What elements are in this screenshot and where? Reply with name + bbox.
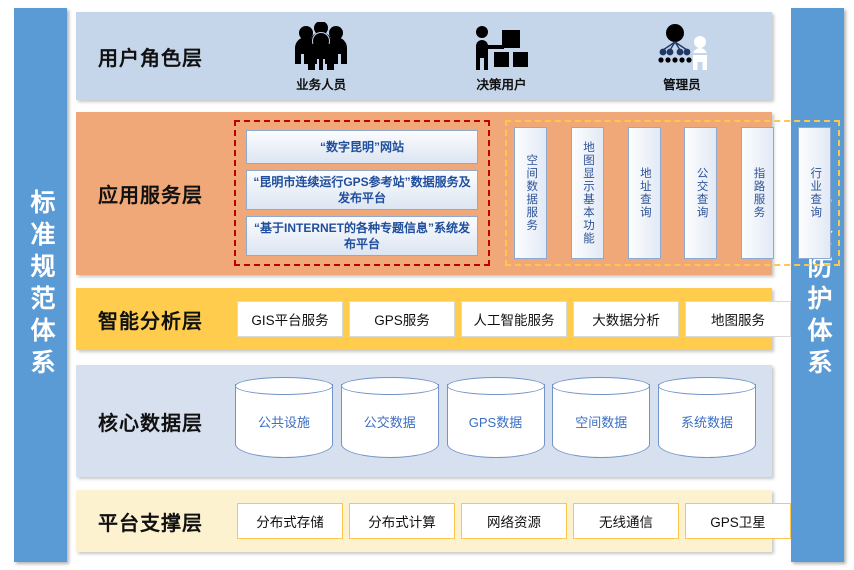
support-service-item[interactable]: 无线通信: [573, 503, 679, 539]
layer-intelligent-analysis-body: GIS平台服务 GPS服务 人工智能服务 大数据分析 地图服务: [231, 288, 805, 350]
layer-platform-support: 平台支撑层 分布式存储 分布式计算 网络资源 无线通信 GPS卫星: [76, 490, 772, 552]
app-service-item[interactable]: 地址查询: [628, 127, 661, 259]
database-list: 公共设施 公交数据 GPS数据 空间数据: [231, 377, 772, 465]
security-pillar: 安全防护体系: [791, 8, 844, 562]
app-service-label: 指路服务: [752, 167, 764, 219]
app-platform-item[interactable]: “基于INTERNET的各种专题信息”系统发布平台: [246, 216, 478, 256]
role-label: 管理员: [663, 74, 701, 93]
app-platform-item[interactable]: “昆明市连续运行GPS参考站”数据服务及发布平台: [246, 170, 478, 210]
app-service-label: 地图显示基本功能: [582, 141, 594, 245]
app-platform-item[interactable]: “数字昆明”网站: [246, 130, 478, 164]
database-cylinder[interactable]: 系统数据: [658, 377, 756, 465]
support-service-item[interactable]: 分布式存储: [237, 503, 343, 539]
service-group-yellow: 空间数据服务 地图显示基本功能 地址查询 公交查询 指路服务 行业查询: [505, 120, 840, 266]
support-service-list: 分布式存储 分布式计算 网络资源 无线通信 GPS卫星: [231, 503, 805, 539]
database-cylinder[interactable]: GPS数据: [447, 377, 545, 465]
database-label: GPS数据: [447, 377, 545, 465]
layer-user-role: 用户角色层: [76, 12, 772, 100]
analysis-service-list: GIS平台服务 GPS服务 人工智能服务 大数据分析 地图服务: [231, 301, 805, 337]
app-service-item[interactable]: 行业查询: [798, 127, 831, 259]
analysis-service-item[interactable]: 人工智能服务: [461, 301, 567, 337]
database-label: 公交数据: [341, 377, 439, 465]
role-item-business-staff[interactable]: 业务人员: [231, 12, 411, 100]
architecture-diagram: 标准规范体系 安全防护体系 用户角色层: [0, 0, 854, 570]
layer-application-service: 应用服务层 “数字昆明”网站 “昆明市连续运行GPS参考站”数据服务及发布平台 …: [76, 112, 772, 275]
role-item-decision-user[interactable]: 决策用户: [411, 12, 591, 100]
app-service-label: 行业查询: [809, 167, 821, 219]
analysis-service-item[interactable]: 大数据分析: [573, 301, 679, 337]
analysis-service-item[interactable]: 地图服务: [685, 301, 791, 337]
layer-core-data-label: 核心数据层: [76, 407, 231, 436]
analysis-service-item[interactable]: GIS平台服务: [237, 301, 343, 337]
database-cylinder[interactable]: 公共设施: [235, 377, 333, 465]
database-label: 系统数据: [658, 377, 756, 465]
layer-intelligent-analysis: 智能分析层 GIS平台服务 GPS服务 人工智能服务 大数据分析 地图服务: [76, 288, 772, 350]
standards-pillar-label: 标准规范体系: [28, 189, 53, 381]
layer-application-service-label: 应用服务层: [76, 179, 231, 208]
app-service-label: 空间数据服务: [525, 154, 537, 232]
role-label: 决策用户: [476, 74, 526, 93]
platform-group-red: “数字昆明”网站 “昆明市连续运行GPS参考站”数据服务及发布平台 “基于INT…: [234, 120, 490, 266]
org-chart-person-icon: [653, 20, 711, 70]
database-label: 空间数据: [552, 377, 650, 465]
app-service-item[interactable]: 地图显示基本功能: [571, 127, 604, 259]
app-service-item[interactable]: 空间数据服务: [514, 127, 547, 259]
layer-platform-support-label: 平台支撑层: [76, 507, 231, 536]
database-label: 公共设施: [235, 377, 333, 465]
app-service-label: 公交查询: [695, 167, 707, 219]
standards-pillar: 标准规范体系: [14, 8, 67, 562]
support-service-item[interactable]: 网络资源: [461, 503, 567, 539]
database-cylinder[interactable]: 公交数据: [341, 377, 439, 465]
layer-intelligent-analysis-label: 智能分析层: [76, 305, 231, 334]
layer-core-data-body: 公共设施 公交数据 GPS数据 空间数据: [231, 365, 772, 477]
role-item-administrator[interactable]: 管理员: [592, 12, 772, 100]
people-group-icon: [289, 20, 353, 70]
layer-application-service-body: “数字昆明”网站 “昆明市连续运行GPS参考站”数据服务及发布平台 “基于INT…: [231, 112, 772, 275]
layer-user-role-body: 业务人员: [231, 12, 772, 100]
layer-core-data: 核心数据层 公共设施 公交数据 GPS数据: [76, 365, 772, 477]
app-service-item[interactable]: 指路服务: [741, 127, 774, 259]
support-service-item[interactable]: GPS卫星: [685, 503, 791, 539]
role-label: 业务人员: [296, 74, 346, 93]
app-service-label: 地址查询: [638, 167, 650, 219]
role-list: 业务人员: [231, 12, 772, 100]
layer-user-role-label: 用户角色层: [76, 42, 231, 71]
layer-platform-support-body: 分布式存储 分布式计算 网络资源 无线通信 GPS卫星: [231, 490, 805, 552]
database-cylinder[interactable]: 空间数据: [552, 377, 650, 465]
support-service-item[interactable]: 分布式计算: [349, 503, 455, 539]
app-service-item[interactable]: 公交查询: [684, 127, 717, 259]
person-with-charts-icon: [472, 20, 530, 70]
analysis-service-item[interactable]: GPS服务: [349, 301, 455, 337]
